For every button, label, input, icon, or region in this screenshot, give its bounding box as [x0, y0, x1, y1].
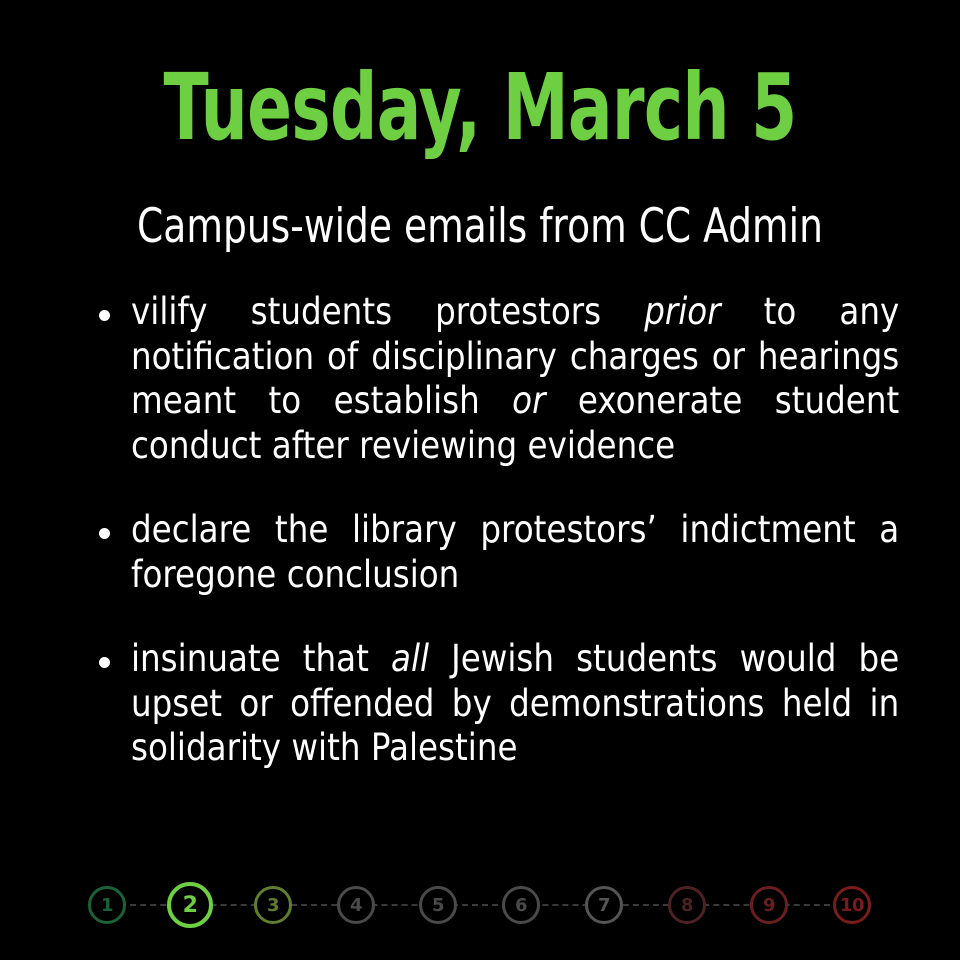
bullet-list: vilify students protestors prior to any … [88, 290, 900, 771]
progress-step-label: 1 [101, 895, 113, 916]
progress-step-7[interactable]: 7 [585, 886, 623, 924]
progress-step-label: 3 [267, 895, 279, 916]
page-subtitle: Campus-wide emails from CC Admin [96, 198, 864, 256]
list-item: insinuate that all Jewish students would… [88, 637, 900, 771]
page-title: Tuesday, March 5 [134, 56, 825, 160]
progress-step-label: 8 [681, 895, 693, 916]
list-item: vilify students protestors prior to any … [88, 290, 900, 468]
progress-step-10[interactable]: 10 [833, 886, 871, 924]
bullet-dot-icon [99, 657, 110, 668]
progress-step-8[interactable]: 8 [668, 886, 706, 924]
progress-step-label: 6 [515, 895, 527, 916]
bullet-text: insinuate that all Jewish students would… [131, 637, 899, 771]
progress-step-label: 9 [763, 895, 775, 916]
progress-step-5[interactable]: 5 [419, 886, 457, 924]
progress-connector-line [110, 904, 850, 906]
progress-step-label: 5 [432, 895, 444, 916]
progress-step-label: 2 [183, 893, 198, 918]
progress-step-6[interactable]: 6 [502, 886, 540, 924]
bullet-text: declare the library protestors’ indictme… [131, 508, 899, 597]
progress-step-label: 7 [598, 895, 610, 916]
progress-step-9[interactable]: 9 [750, 886, 788, 924]
progress-step-3[interactable]: 3 [254, 886, 292, 924]
progress-indicator: 1 2 3 4 5 6 7 8 9 10 [0, 874, 960, 936]
progress-step-1[interactable]: 1 [88, 886, 126, 924]
slide-canvas: Tuesday, March 5 Campus-wide emails from… [0, 0, 960, 960]
bullet-text: vilify students protestors prior to any … [131, 290, 899, 468]
progress-step-label: 10 [840, 895, 864, 916]
progress-step-4[interactable]: 4 [337, 886, 375, 924]
progress-step-2[interactable]: 2 [167, 882, 213, 928]
list-item: declare the library protestors’ indictme… [88, 508, 900, 597]
bullet-dot-icon [99, 528, 110, 539]
progress-step-label: 4 [350, 895, 362, 916]
bullet-dot-icon [99, 310, 110, 321]
